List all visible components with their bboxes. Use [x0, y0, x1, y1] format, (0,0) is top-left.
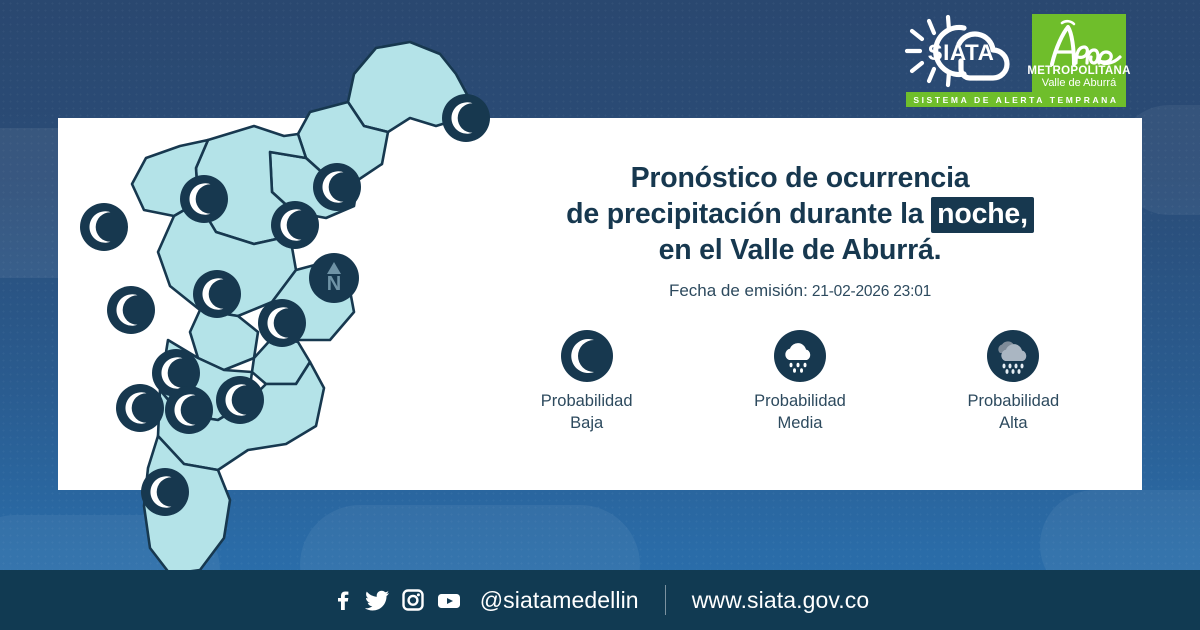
map-marker: [141, 468, 189, 516]
footer-bar: @siatamedellin www.siata.gov.co: [0, 570, 1200, 630]
headline-line-2: de precipitación durante la noche,: [470, 196, 1130, 232]
legend-item-alta: Probabilidad Alta: [923, 330, 1103, 434]
instagram-icon[interactable]: [401, 588, 425, 612]
legend-label-baja-line2: Baja: [497, 412, 677, 434]
infographic-root: SIATA METROPOLITANA Valle de Aburrá: [0, 0, 1200, 630]
map-marker: [442, 94, 490, 142]
cloud-heavy-rain-icon: [987, 330, 1039, 382]
legend-label-media-line1: Probabilidad: [710, 390, 890, 412]
legend-label-alta-line1: Probabilidad: [923, 390, 1103, 412]
probability-legend: Probabilidad Baja Probabi: [480, 330, 1120, 434]
emission-date: Fecha de emisión:21-02-2026 23:01: [470, 281, 1130, 301]
headline-highlight: noche,: [931, 197, 1034, 233]
legend-label-media-line2: Media: [710, 412, 890, 434]
tagline-text: SISTEMA DE ALERTA TEMPRANA: [913, 95, 1118, 105]
legend-label-baja-line1: Probabilidad: [497, 390, 677, 412]
map-marker: [313, 163, 361, 211]
headline-line-1: Pronóstico de ocurrencia: [470, 160, 1130, 196]
map-marker: [116, 384, 164, 432]
map-marker: [216, 376, 264, 424]
moon-icon: [561, 330, 613, 382]
compass-label: N: [327, 273, 341, 295]
emission-date-label: Fecha de emisión:: [669, 281, 808, 300]
social-icon-group: [331, 588, 462, 612]
map-marker: [165, 386, 213, 434]
headline-line-2-text: de precipitación durante la: [566, 198, 931, 230]
legend-item-media: Probabilidad Media: [710, 330, 890, 434]
emission-date-value: 21-02-2026 23:01: [812, 283, 931, 300]
map-marker: [107, 286, 155, 334]
headline-line-3: en el Valle de Aburrá.: [470, 232, 1130, 268]
footer-divider: [665, 585, 666, 615]
siata-logo: SIATA: [898, 14, 1024, 88]
area-metropolitana-logo: METROPOLITANA Valle de Aburrá: [1032, 14, 1126, 94]
cloud-rain-moon-icon: [774, 330, 826, 382]
map-marker: [193, 270, 241, 318]
siata-logo-text: SIATA: [928, 40, 995, 65]
map-marker: [258, 299, 306, 347]
legend-label-alta-line2: Alta: [923, 412, 1103, 434]
tagline-bar: SISTEMA DE ALERTA TEMPRANA: [906, 92, 1126, 107]
youtube-icon[interactable]: [436, 588, 462, 612]
map-marker: [80, 203, 128, 251]
facebook-icon[interactable]: [331, 588, 353, 612]
website-url[interactable]: www.siata.gov.co: [692, 587, 870, 614]
page-title: Pronóstico de ocurrencia de precipitació…: [470, 160, 1130, 268]
twitter-icon[interactable]: [364, 588, 390, 612]
legend-item-baja: Probabilidad Baja: [497, 330, 677, 434]
map-marker: [271, 201, 319, 249]
map-marker: [180, 175, 228, 223]
social-handle[interactable]: @siatamedellin: [480, 587, 639, 614]
logo-group: SIATA METROPOLITANA Valle de Aburrá: [898, 14, 1126, 94]
area-script-mark: [1032, 19, 1126, 69]
area-logo-line2: Valle de Aburrá: [1042, 77, 1116, 90]
valle-de-aburra-map: N: [58, 40, 478, 580]
compass-badge: N: [309, 253, 359, 303]
forecast-text-block: Pronóstico de ocurrencia de precipitació…: [470, 160, 1130, 301]
